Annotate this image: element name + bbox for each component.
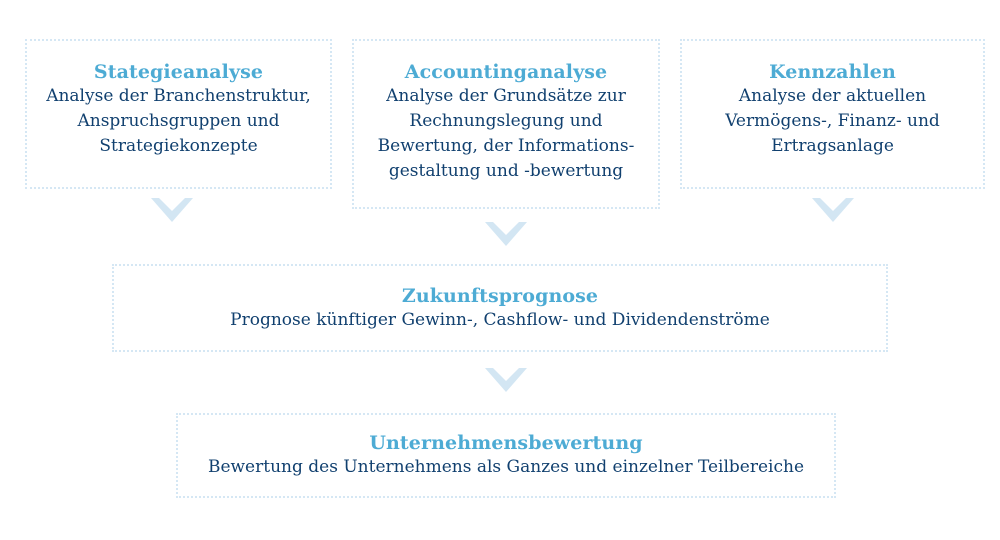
- node-unternehmensbewertung: Unternehmensbewertung Bewertung des Unte…: [176, 413, 836, 498]
- node-title: Zukunftsprognose: [402, 284, 598, 308]
- node-body: Analyse der Grundsätze zur Rechnungslegu…: [378, 84, 635, 184]
- flow-diagram: Stategieanalyse Analyse der Branchenstru…: [0, 0, 1000, 540]
- node-body: Analyse der aktuellen Vermögens-, Finanz…: [725, 84, 940, 159]
- node-title: Stategieanalyse: [94, 60, 263, 84]
- node-body: Prognose künftiger Gewinn-, Cashflow- un…: [230, 308, 770, 333]
- node-title: Accountinganalyse: [405, 60, 607, 84]
- node-strategieanalyse: Stategieanalyse Analyse der Branchenstru…: [25, 39, 332, 189]
- node-title: Unternehmensbewertung: [369, 431, 642, 455]
- node-body: Analyse der Branchenstruktur, Anspruchsg…: [46, 84, 311, 159]
- chevron-down-icon: [812, 198, 854, 222]
- chevron-down-icon: [485, 368, 527, 392]
- node-body: Bewertung des Unternehmens als Ganzes un…: [208, 455, 804, 480]
- node-zukunftsprognose: Zukunftsprognose Prognose künftiger Gewi…: [112, 264, 888, 352]
- node-title: Kennzahlen: [769, 60, 896, 84]
- chevron-down-icon: [151, 198, 193, 222]
- node-kennzahlen: Kennzahlen Analyse der aktuellen Vermöge…: [680, 39, 985, 189]
- node-accountinganalyse: Accountinganalyse Analyse der Grundsätze…: [352, 39, 660, 209]
- chevron-down-icon: [485, 222, 527, 246]
